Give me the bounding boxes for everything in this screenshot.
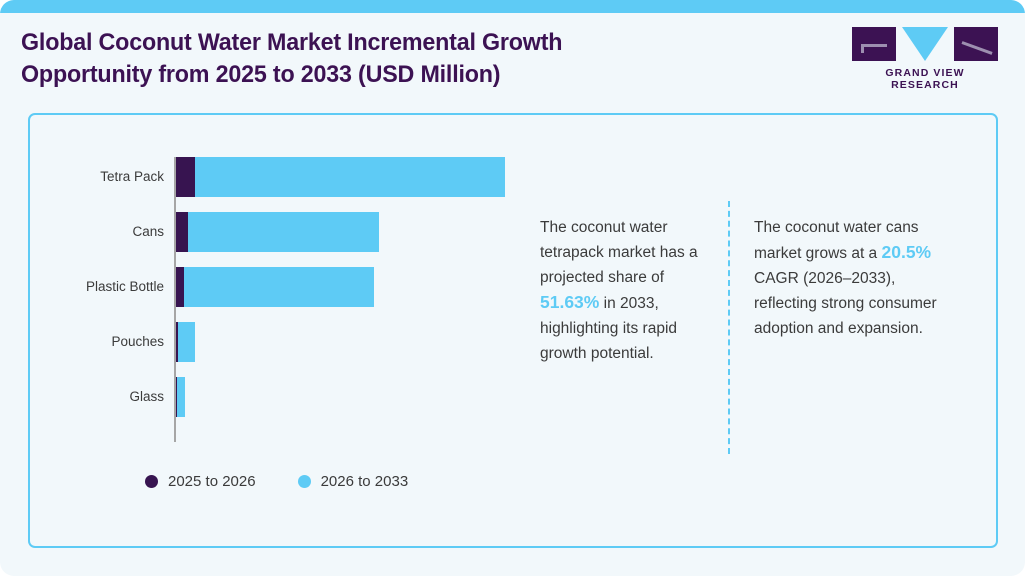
category-label-pouches: Pouches (24, 322, 164, 362)
page-title-line-2: Opportunity from 2025 to 2033 (USD Milli… (21, 59, 686, 91)
category-label-cans: Cans (24, 212, 164, 252)
bar-segment-2025-2026[interactable] (176, 212, 188, 252)
category-label-glass: Glass (24, 377, 164, 417)
logo-marks (852, 27, 998, 63)
table-row[interactable] (176, 267, 374, 307)
plot-area (174, 157, 524, 442)
chart-legend: 2025 to 2026 2026 to 2033 (145, 473, 450, 490)
callout-highlight-value: 51.63% (540, 292, 599, 312)
bar-segment-2025-2026[interactable] (176, 157, 195, 197)
page-title: Global Coconut Water Market Incremental … (21, 27, 686, 91)
callout-cans: The coconut water cans market grows at a… (754, 215, 944, 341)
logo-g-block-icon (852, 27, 896, 61)
grand-view-research-logo: GRAND VIEW RESEARCH (852, 27, 998, 83)
logo-brand-text: GRAND VIEW RESEARCH (852, 67, 998, 91)
bar-segment-2025-2026[interactable] (176, 267, 184, 307)
callout-tetrapack: The coconut water tetrapack market has a… (540, 215, 722, 366)
legend-label: 2025 to 2026 (168, 473, 256, 490)
logo-v-triangle-icon (902, 27, 948, 61)
category-axis-labels: Tetra Pack Cans Plastic Bottle Pouches G… (30, 157, 164, 442)
bar-segment-2026-2033[interactable] (184, 267, 374, 307)
callout-text-after: CAGR (2026–2033), reflecting strong cons… (754, 270, 937, 337)
legend-swatch-icon (298, 475, 311, 488)
callout-divider (728, 201, 730, 454)
table-row[interactable] (176, 377, 185, 417)
logo-r-block-icon (954, 27, 998, 61)
legend-label: 2026 to 2033 (321, 473, 409, 490)
legend-item-2026-2033[interactable]: 2026 to 2033 (298, 473, 409, 490)
top-accent-bar (0, 0, 1025, 13)
bar-segment-2026-2033[interactable] (178, 322, 195, 362)
callout-text-before: The coconut water tetrapack market has a… (540, 219, 698, 286)
chart-panel: Tetra Pack Cans Plastic Bottle Pouches G… (28, 113, 998, 548)
infographic-page: Global Coconut Water Market Incremental … (0, 0, 1025, 576)
legend-item-2025-2026[interactable]: 2025 to 2026 (145, 473, 256, 490)
bar-chart: Tetra Pack Cans Plastic Bottle Pouches G… (30, 115, 540, 550)
callout-highlight-value: 20.5% (882, 242, 932, 262)
bar-segment-2026-2033[interactable] (177, 377, 185, 417)
table-row[interactable] (176, 322, 195, 362)
table-row[interactable] (176, 212, 379, 252)
header: Global Coconut Water Market Incremental … (0, 13, 1025, 113)
page-title-line-1: Global Coconut Water Market Incremental … (21, 27, 686, 59)
category-label-plastic-bottle: Plastic Bottle (24, 267, 164, 307)
bar-segment-2026-2033[interactable] (188, 212, 379, 252)
legend-swatch-icon (145, 475, 158, 488)
bar-segment-2026-2033[interactable] (195, 157, 505, 197)
table-row[interactable] (176, 157, 505, 197)
category-label-tetra-pack: Tetra Pack (24, 157, 164, 197)
